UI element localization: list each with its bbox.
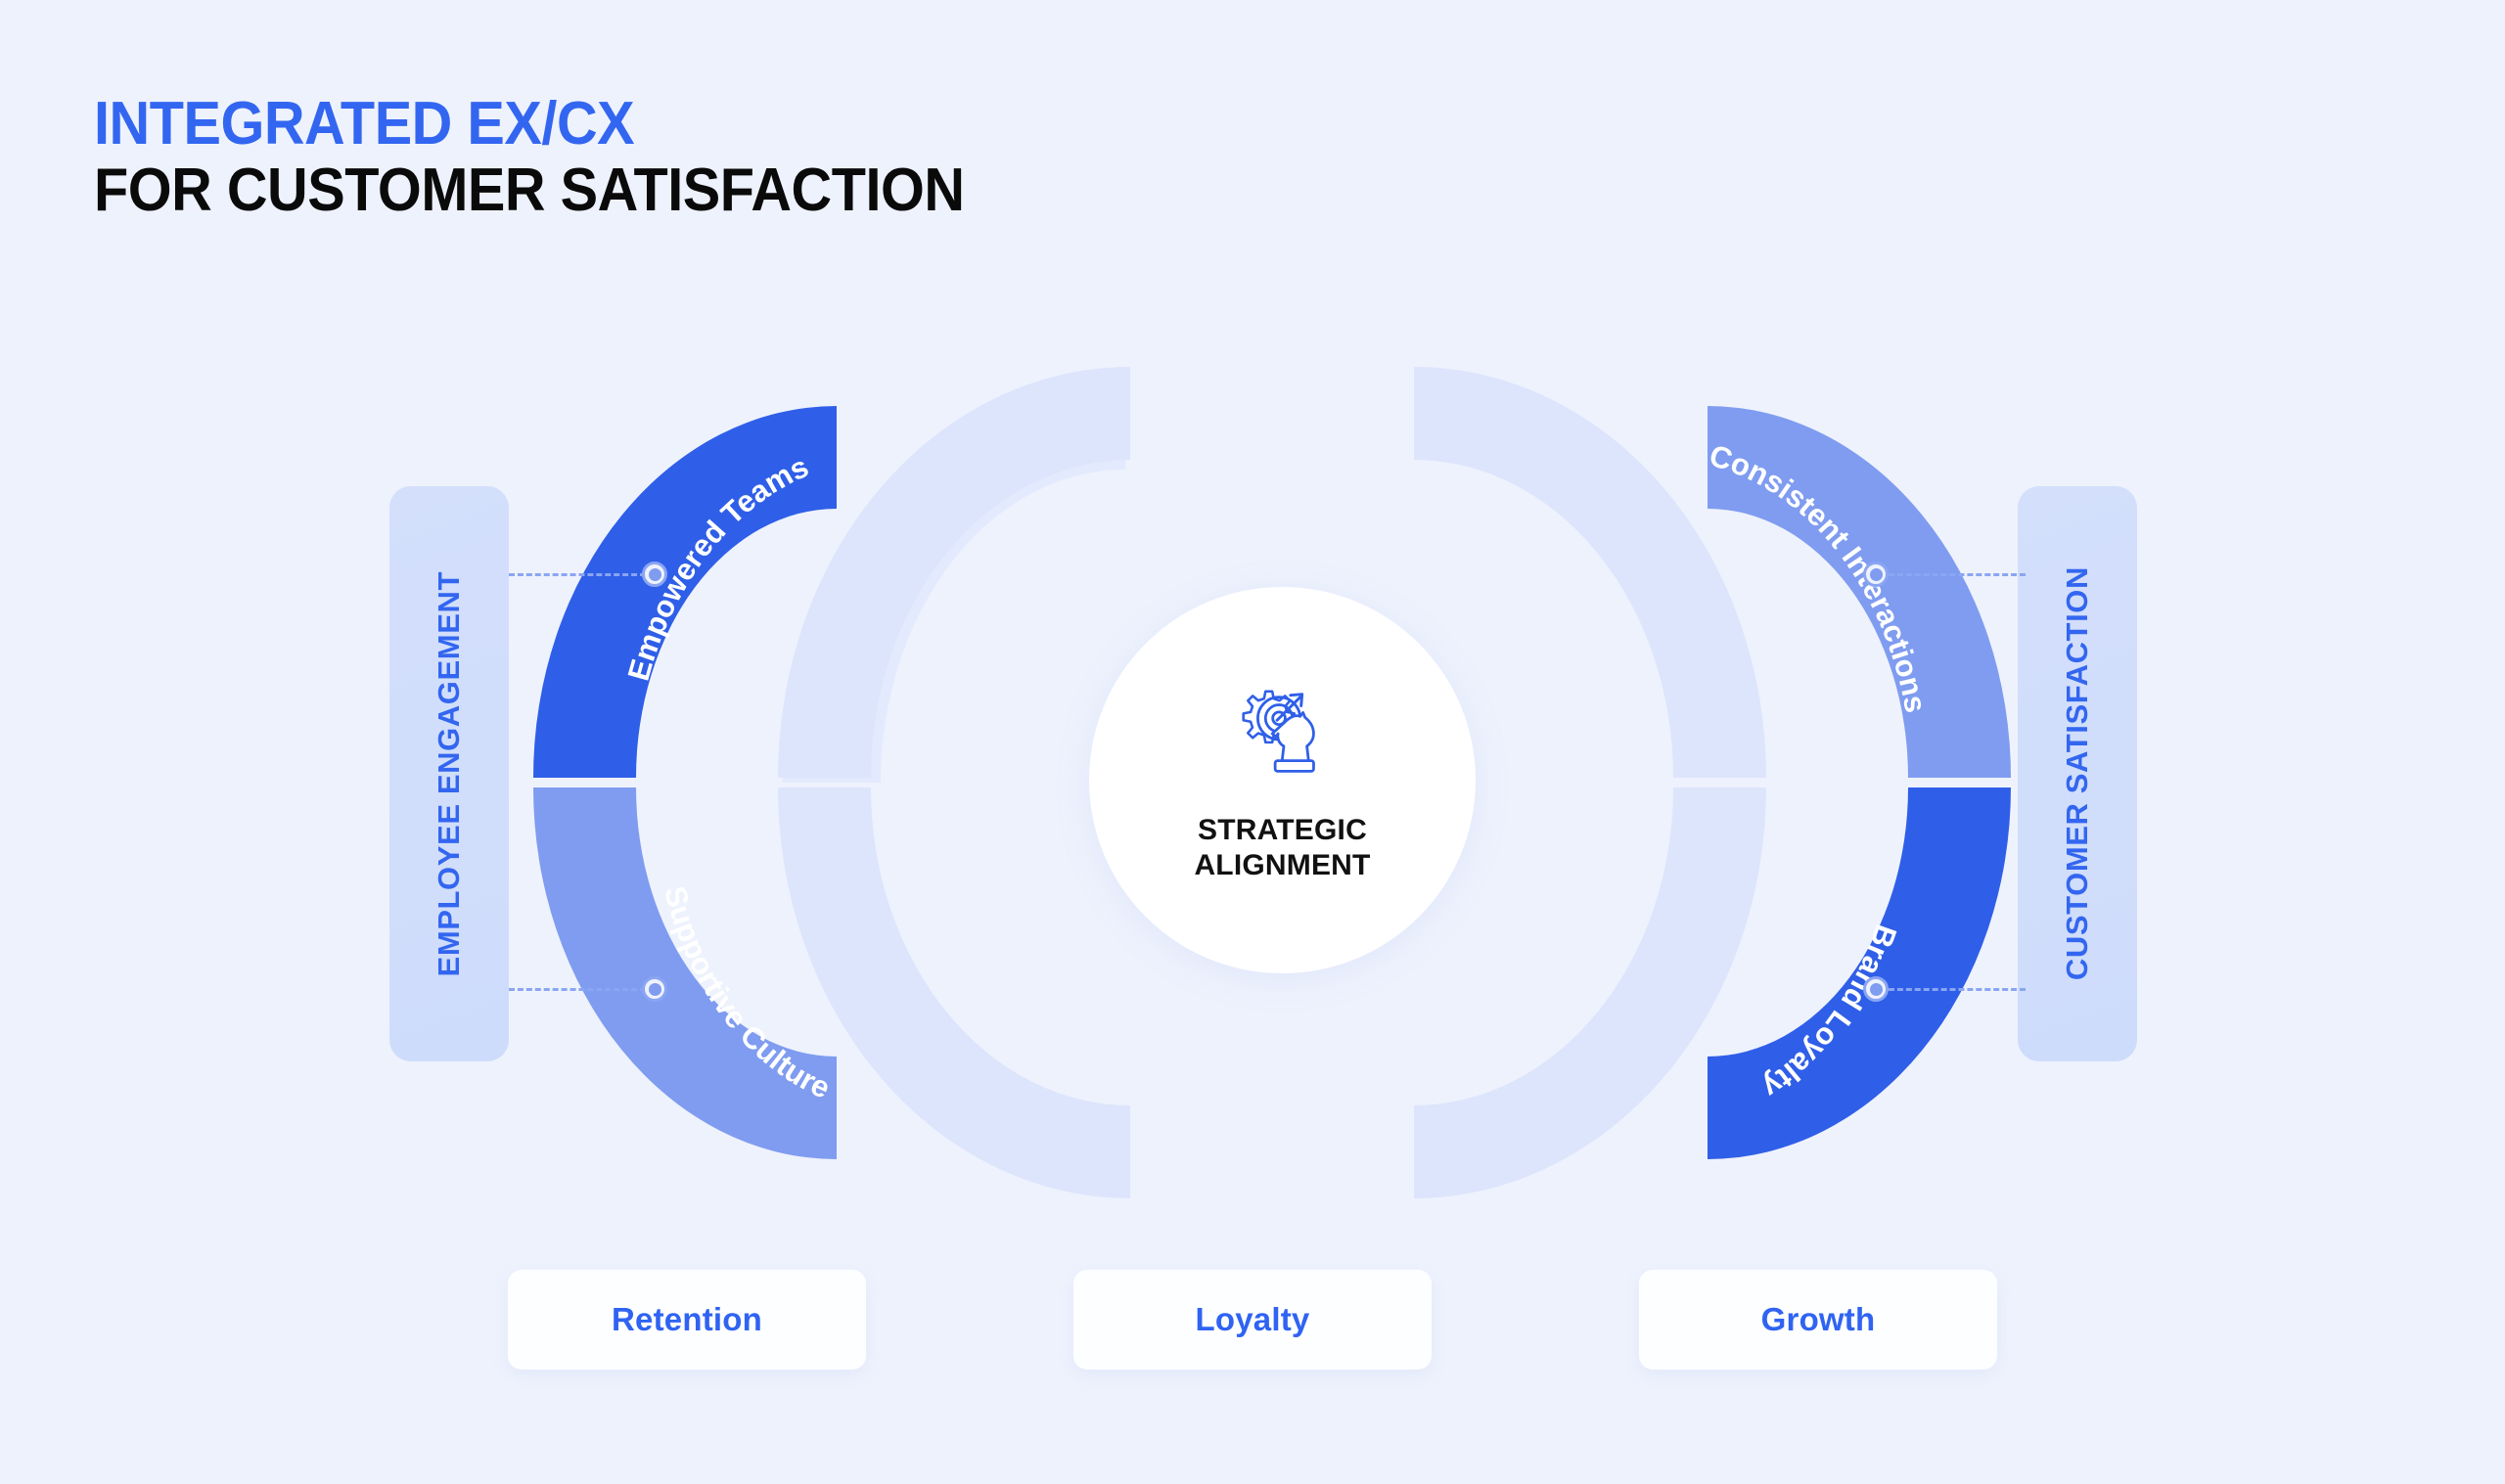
outcome-card-growth-label: Growth bbox=[1761, 1301, 1876, 1338]
connector-dot-supportive-culture[interactable] bbox=[642, 976, 667, 1002]
connector-dot-brand-loyalty[interactable] bbox=[1863, 976, 1889, 1002]
pillar-label-customer-satisfaction[interactable]: CUSTOMER SATISFACTION bbox=[2018, 486, 2137, 1061]
pillar-label-employee-engagement-text: EMPLOYEE ENGAGEMENT bbox=[432, 571, 467, 976]
outcome-card-retention-label: Retention bbox=[612, 1301, 762, 1338]
strategy-gear-target-knight-icon bbox=[1225, 678, 1341, 793]
connector-line-brand-loyalty bbox=[1889, 988, 2026, 993]
right-ring bbox=[1414, 367, 2011, 1198]
center-label: STRATEGIC ALIGNMENT bbox=[1194, 813, 1370, 882]
pillar-label-customer-satisfaction-text: CUSTOMER SATISFACTION bbox=[2060, 566, 2095, 980]
center-label-line-1: STRATEGIC bbox=[1194, 813, 1370, 847]
outcome-card-loyalty[interactable]: Loyalty bbox=[1073, 1270, 1432, 1370]
connector-line-empowered-teams bbox=[509, 573, 646, 578]
outcome-card-retention[interactable]: Retention bbox=[508, 1270, 866, 1370]
connector-line-consistent-interactions bbox=[1889, 573, 2026, 578]
center-strategic-alignment: STRATEGIC ALIGNMENT bbox=[1089, 587, 1476, 973]
outcome-cards-row: Retention Loyalty Growth bbox=[0, 1270, 2505, 1370]
connector-dot-empowered-teams[interactable] bbox=[642, 562, 667, 587]
pillar-label-employee-engagement[interactable]: EMPLOYEE ENGAGEMENT bbox=[389, 486, 509, 1061]
connector-line-supportive-culture bbox=[509, 988, 646, 993]
center-label-line-2: ALIGNMENT bbox=[1194, 848, 1370, 882]
infographic-stage: Empowered Teams Supportive Culture Consi… bbox=[0, 0, 2505, 1484]
connector-dot-consistent-interactions[interactable] bbox=[1863, 562, 1889, 587]
outcome-card-growth[interactable]: Growth bbox=[1639, 1270, 1997, 1370]
outcome-card-loyalty-label: Loyalty bbox=[1196, 1301, 1310, 1338]
